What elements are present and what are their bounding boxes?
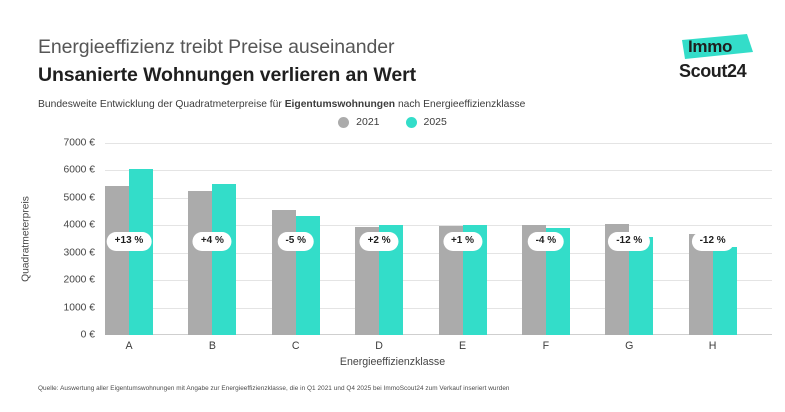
source-footnote: Quelle: Auswertung aller Eigentumswohnun… xyxy=(38,385,510,392)
bar-group: +4 %B xyxy=(188,143,236,335)
bar-A-2025[interactable] xyxy=(129,169,153,335)
y-axis-tick-label: 5000 € xyxy=(25,192,95,203)
x-axis-tick-label: E xyxy=(439,340,487,352)
bar-group: +2 %D xyxy=(355,143,403,335)
x-axis-tick-label: G xyxy=(605,340,653,352)
bar-group: -12 %G xyxy=(605,143,653,335)
change-badge: +1 % xyxy=(443,232,482,251)
y-axis-title: Quadratmeterpreis xyxy=(21,196,32,282)
y-axis-tick-label: 0 € xyxy=(25,330,95,341)
x-axis-tick-label: F xyxy=(522,340,570,352)
plot-area: 0 €1000 €2000 €3000 €4000 €5000 €6000 €7… xyxy=(105,143,772,335)
bar-group: -5 %C xyxy=(272,143,320,335)
x-axis-tick-label: D xyxy=(355,340,403,352)
y-axis-tick-label: 7000 € xyxy=(25,138,95,149)
x-axis-tick-label: B xyxy=(188,340,236,352)
x-axis-tick-label: A xyxy=(105,340,153,352)
bar-chart: Quadratmeterpreis 0 €1000 €2000 €3000 €4… xyxy=(0,0,785,412)
y-axis-tick-label: 4000 € xyxy=(25,220,95,231)
change-badge: -5 % xyxy=(277,232,314,251)
bar-group: +13 %A xyxy=(105,143,153,335)
change-badge: +4 % xyxy=(193,232,232,251)
bar-G-2025[interactable] xyxy=(629,237,653,335)
bar-B-2025[interactable] xyxy=(212,184,236,335)
change-badge: -4 % xyxy=(528,232,565,251)
change-badge: +2 % xyxy=(360,232,399,251)
bar-A-2021[interactable] xyxy=(105,186,129,335)
change-badge: -12 % xyxy=(608,232,650,251)
x-axis-tick-label: H xyxy=(689,340,737,352)
change-badge: +13 % xyxy=(107,232,152,251)
bar-group: -12 %H xyxy=(689,143,737,335)
change-badge: -12 % xyxy=(692,232,734,251)
y-axis-tick-label: 6000 € xyxy=(25,165,95,176)
y-axis-tick-label: 2000 € xyxy=(25,275,95,286)
y-axis-tick-label: 1000 € xyxy=(25,302,95,313)
bar-H-2025[interactable] xyxy=(713,247,737,335)
y-axis-tick-label: 3000 € xyxy=(25,247,95,258)
bar-group: -4 %F xyxy=(522,143,570,335)
x-axis-title: Energieeffizienzklasse xyxy=(0,356,785,368)
bar-C-2021[interactable] xyxy=(272,210,296,335)
x-axis-tick-label: C xyxy=(272,340,320,352)
bar-group: +1 %E xyxy=(439,143,487,335)
bar-B-2021[interactable] xyxy=(188,191,212,335)
